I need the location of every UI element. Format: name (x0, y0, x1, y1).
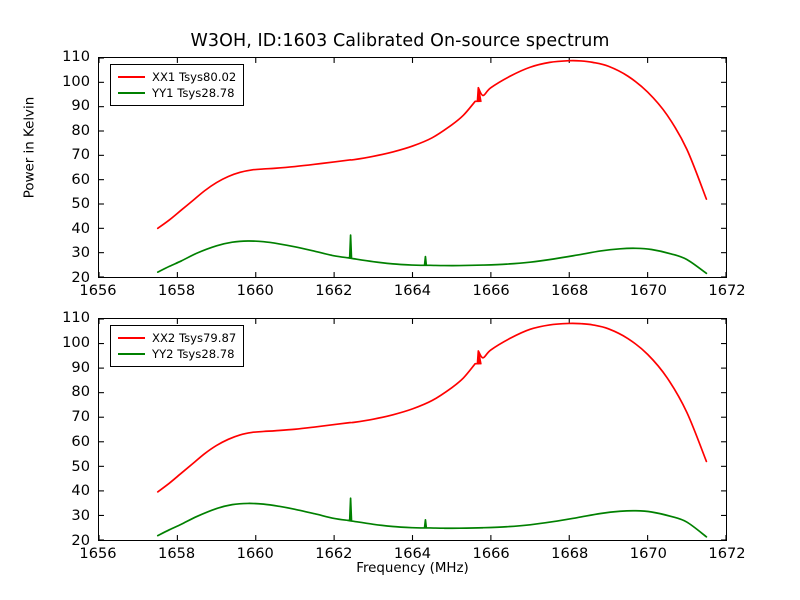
legend-label-xx1: XX1 Tsys80.02 (152, 70, 236, 84)
y-tick-label: 80 (44, 385, 90, 400)
legend-line-xx2 (118, 337, 145, 339)
x-tick-label: 1664 (383, 547, 443, 562)
y-tick-label: 100 (44, 336, 90, 351)
x-tick-label: 1672 (697, 284, 757, 299)
x-tick-label: 1672 (697, 547, 757, 562)
series-line-yy2 (158, 498, 707, 537)
x-tick-label: 1666 (461, 284, 521, 299)
legend-bottom: XX2 Tsys79.87 YY2 Tsys28.78 (110, 325, 244, 367)
legend-item: YY2 Tsys28.78 (116, 346, 236, 362)
y-tick-label: 70 (44, 410, 90, 425)
x-tick-label: 1658 (147, 547, 207, 562)
x-tick-label: 1662 (304, 547, 364, 562)
y-tick-label: 110 (44, 311, 90, 326)
legend-line-yy1 (118, 92, 145, 94)
x-tick-label: 1662 (304, 284, 364, 299)
series-line-yy1 (158, 235, 707, 273)
y-tick-label: 90 (44, 361, 90, 376)
x-tick-label: 1668 (540, 547, 600, 562)
legend-line-yy2 (118, 353, 145, 355)
legend-label-yy2: YY2 Tsys28.78 (152, 347, 235, 361)
legend-label-xx2: XX2 Tsys79.87 (152, 331, 236, 345)
x-tick-label: 1660 (225, 284, 285, 299)
legend-item: XX1 Tsys80.02 (116, 69, 236, 85)
x-tick-label: 1656 (68, 547, 128, 562)
figure-canvas: W3OH, ID:1603 Calibrated On-source spect… (0, 0, 800, 600)
y-tick-label: 50 (44, 460, 90, 475)
y-tick-label: 90 (44, 99, 90, 114)
x-tick-label: 1660 (225, 547, 285, 562)
y-tick-label: 60 (44, 173, 90, 188)
x-tick-label: 1670 (618, 284, 678, 299)
legend-item: XX2 Tsys79.87 (116, 330, 236, 346)
x-axis-label: Frequency (MHz) (98, 561, 727, 576)
y-tick-label: 30 (44, 246, 90, 261)
y-tick-label: 40 (44, 222, 90, 237)
x-tick-label: 1664 (383, 284, 443, 299)
x-tick-label: 1670 (618, 547, 678, 562)
legend-item: YY1 Tsys28.78 (116, 85, 236, 101)
y-tick-label: 80 (44, 124, 90, 139)
y-tick-label: 70 (44, 148, 90, 163)
y-axis-label: Power in Kelvin (23, 58, 38, 238)
y-tick-label: 50 (44, 197, 90, 212)
legend-line-xx1 (118, 76, 145, 78)
y-tick-label: 30 (44, 509, 90, 524)
x-tick-label: 1656 (68, 284, 128, 299)
y-tick-label: 40 (44, 484, 90, 499)
legend-top: XX1 Tsys80.02 YY1 Tsys28.78 (110, 64, 244, 106)
y-tick-label: 100 (44, 75, 90, 90)
x-tick-label: 1658 (147, 284, 207, 299)
y-tick-label: 110 (44, 50, 90, 65)
x-tick-label: 1666 (461, 547, 521, 562)
x-tick-label: 1668 (540, 284, 600, 299)
y-tick-label: 60 (44, 435, 90, 450)
legend-label-yy1: YY1 Tsys28.78 (152, 86, 235, 100)
page-title: W3OH, ID:1603 Calibrated On-source spect… (0, 31, 800, 51)
